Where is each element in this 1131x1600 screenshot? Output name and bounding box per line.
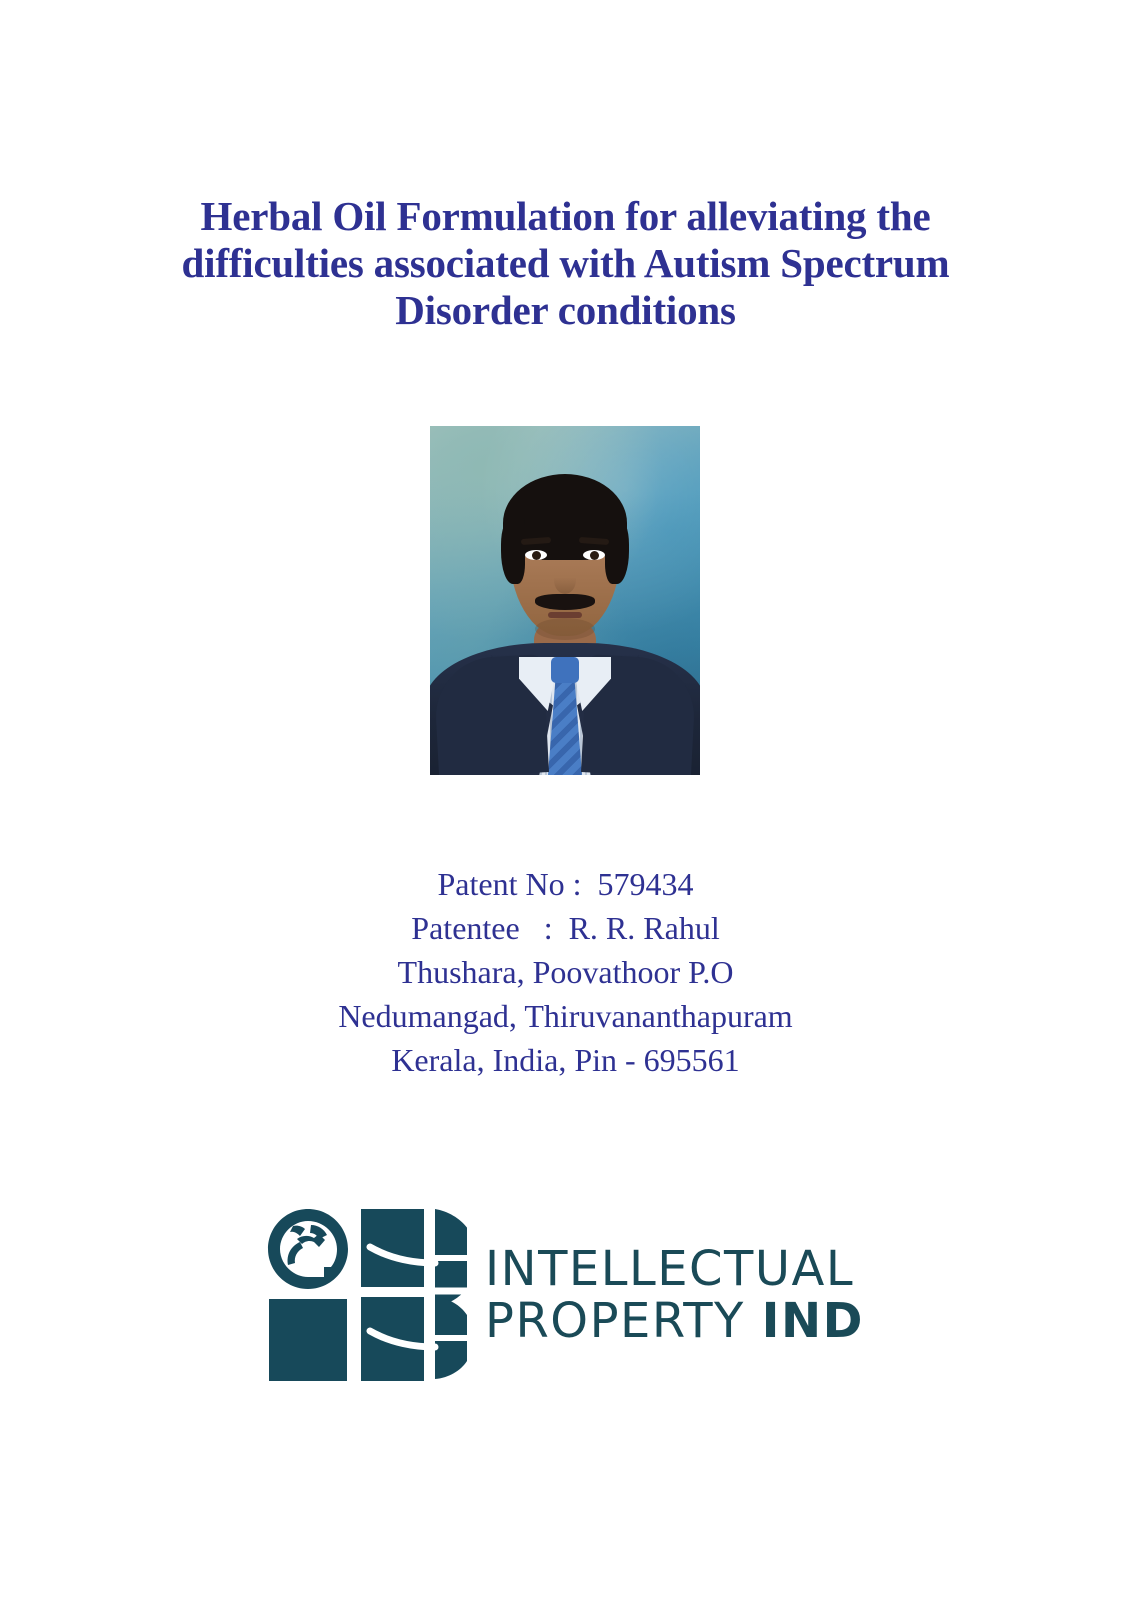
patentee-line: Patentee : R. R. Rahul xyxy=(120,906,1011,950)
photo-hair-side-left xyxy=(501,518,525,584)
photo-eye-left xyxy=(525,550,547,560)
ip-brain-globe-icon xyxy=(267,1203,467,1386)
logo-text-line-2: PROPERTY IND xyxy=(485,1295,864,1347)
page-title: Herbal Oil Formulation for alleviating t… xyxy=(120,193,1011,334)
patent-details: Patent No : 579434 Patentee : R. R. Rahu… xyxy=(120,862,1011,1082)
logo-wordmark: INTELLECTUAL PROPERTY IND xyxy=(485,1243,864,1347)
address-line-1: Thushara, Poovathoor P.O xyxy=(120,950,1011,994)
portrait-photo-image xyxy=(430,426,700,775)
photo-hair-side-right xyxy=(605,518,629,584)
logo-property-text: PROPERTY xyxy=(485,1293,762,1349)
photo-nose xyxy=(554,566,576,594)
photo-moustache xyxy=(535,594,595,610)
portrait-photo xyxy=(430,426,700,775)
intellectual-property-ind-logo: INTELLECTUAL PROPERTY IND xyxy=(0,1203,1131,1386)
photo-tie-knot xyxy=(551,657,579,683)
address-line-2: Nedumangad, Thiruvananthapuram xyxy=(120,994,1011,1038)
title-line-1: Herbal Oil Formulation for alleviating t… xyxy=(120,193,1011,240)
photo-eye-right xyxy=(583,550,605,560)
logo-ind-text: IND xyxy=(762,1293,864,1349)
logo-text-line-1: INTELLECTUAL xyxy=(485,1243,864,1295)
photo-chin xyxy=(535,618,595,640)
title-line-3: Disorder conditions xyxy=(120,287,1011,334)
patent-number-line: Patent No : 579434 xyxy=(120,862,1011,906)
patent-cover-page: Herbal Oil Formulation for alleviating t… xyxy=(0,0,1131,1600)
address-line-3: Kerala, India, Pin - 695561 xyxy=(120,1038,1011,1082)
title-line-2: difficulties associated with Autism Spec… xyxy=(120,240,1011,287)
